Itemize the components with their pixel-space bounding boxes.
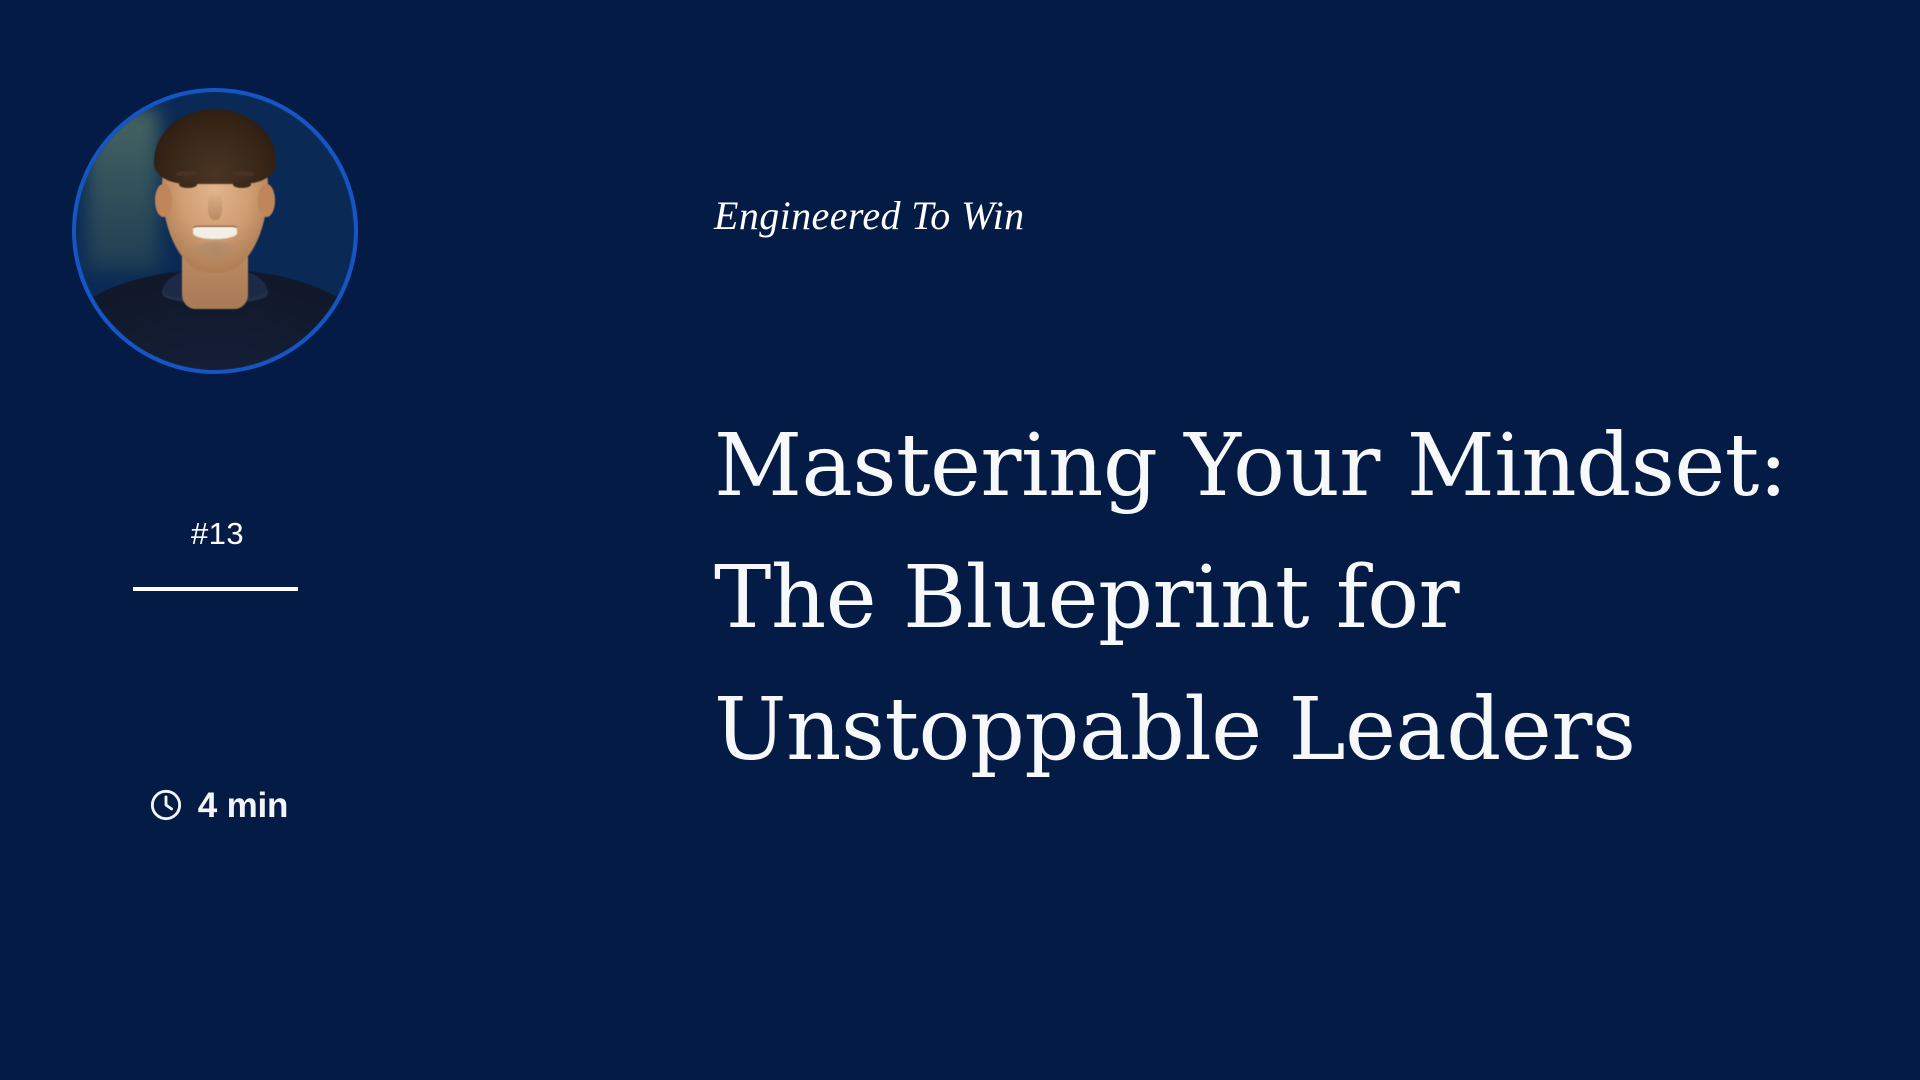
title-line-1: Mastering Your Mindset: xyxy=(714,400,1874,532)
host-portrait-photo xyxy=(76,92,354,370)
title-line-3: Unstoppable Leaders xyxy=(714,664,1874,796)
episode-duration-block: 4 min xyxy=(0,787,430,823)
episode-number-block: #13 xyxy=(0,518,430,591)
portrait-smile xyxy=(193,227,237,239)
title-line-2: The Blueprint for xyxy=(714,532,1874,664)
avatar xyxy=(72,88,358,374)
page-title: Mastering Your Mindset: The Blueprint fo… xyxy=(714,400,1874,796)
episode-duration-label: 4 min xyxy=(198,788,288,823)
portrait-ear-right xyxy=(258,184,275,217)
portrait-ear-left xyxy=(155,184,172,217)
show-name: Engineered To Win xyxy=(714,196,1025,236)
divider-rule xyxy=(133,587,298,591)
portrait-nose xyxy=(208,192,222,220)
episode-cover-card: #13 4 min Engineered To Win Mastering Yo… xyxy=(0,0,1920,1080)
episode-number: #13 xyxy=(0,518,430,549)
clock-icon xyxy=(148,787,184,823)
right-content-column: Engineered To Win Mastering Your Mindset… xyxy=(714,0,1874,1080)
left-meta-column: #13 4 min xyxy=(0,0,430,1080)
portrait-background-blur-shape xyxy=(87,109,159,270)
